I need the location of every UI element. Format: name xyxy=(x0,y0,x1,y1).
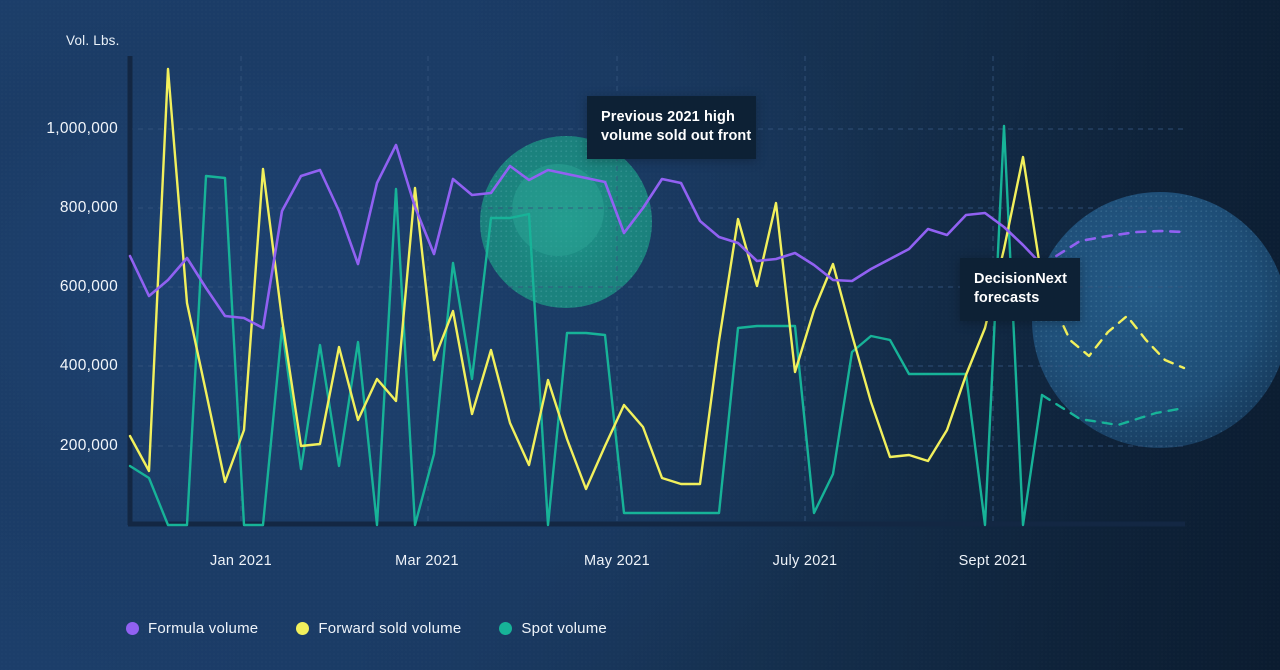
x-tick-label-may-2021: May 2021 xyxy=(584,553,650,569)
high-volume-highlight xyxy=(480,136,652,308)
chart-page: Vol. Lbs. 1,000,000 800,000 600,000 400,… xyxy=(0,0,1280,670)
annotation-forecast-line1: DecisionNext xyxy=(974,270,1066,289)
legend-item-forward-sold-volume[interactable]: Forward sold volume xyxy=(296,620,461,637)
legend-item-spot-volume[interactable]: Spot volume xyxy=(499,620,607,637)
y-axis-title: Vol. Lbs. xyxy=(66,33,120,48)
annotation-decisionnext-forecast: DecisionNext forecasts xyxy=(960,258,1080,321)
legend-swatch-forward-sold-volume xyxy=(296,622,309,635)
annotation-previous-high: Previous 2021 high volume sold out front xyxy=(587,96,756,159)
y-tick-label-200000: 200,000 xyxy=(60,437,118,455)
legend-item-formula-volume[interactable]: Formula volume xyxy=(126,620,258,637)
x-tick-label-sept-2021: Sept 2021 xyxy=(959,553,1028,569)
legend-label-spot-volume: Spot volume xyxy=(521,620,607,637)
y-tick-label-800000: 800,000 xyxy=(60,199,118,217)
x-tick-label-july-2021: July 2021 xyxy=(773,553,838,569)
legend-swatch-formula-volume xyxy=(126,622,139,635)
annotation-previous-high-line2: volume sold out front xyxy=(601,127,742,146)
legend-swatch-spot-volume xyxy=(499,622,512,635)
legend-label-forward-sold-volume: Forward sold volume xyxy=(318,620,461,637)
annotation-previous-high-line1: Previous 2021 high xyxy=(601,108,742,127)
legend-label-formula-volume: Formula volume xyxy=(148,620,258,637)
chart-legend: Formula volume Forward sold volume Spot … xyxy=(126,620,607,637)
x-tick-label-jan-2021: Jan 2021 xyxy=(210,553,272,569)
x-tick-label-mar-2021: Mar 2021 xyxy=(395,553,459,569)
annotation-forecast-line2: forecasts xyxy=(974,289,1066,308)
y-tick-label-600000: 600,000 xyxy=(60,278,118,296)
y-tick-label-1000000: 1,000,000 xyxy=(46,120,118,138)
y-tick-label-400000: 400,000 xyxy=(60,357,118,375)
